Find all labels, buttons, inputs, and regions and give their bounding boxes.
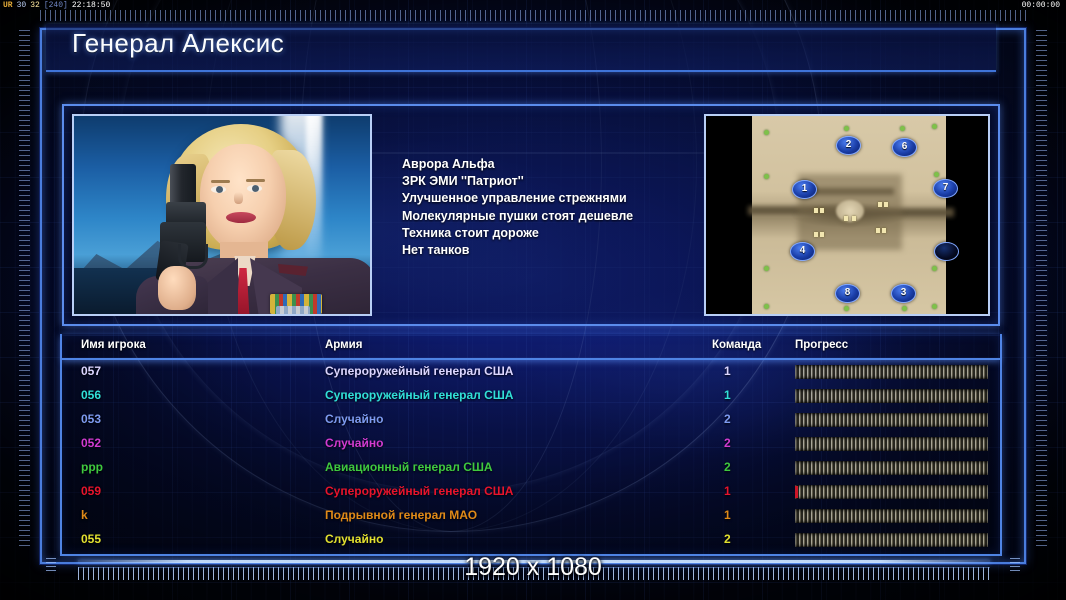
player-name: 059 xyxy=(81,482,101,501)
portrait-brow-right xyxy=(246,179,265,182)
map-resource-icon xyxy=(764,174,769,179)
portrait-face xyxy=(200,144,286,252)
player-progress-bar xyxy=(795,461,988,475)
table-row[interactable]: 057Супероружейный генерал США1 xyxy=(62,362,1000,386)
general-info-panel: Аврора Альфа ЗРК ЭМИ ''Патриот'' Улучшен… xyxy=(62,104,1000,326)
player-name: 052 xyxy=(81,434,101,453)
status-value-2: 32 xyxy=(28,1,42,10)
status-value-1: 30 xyxy=(15,1,29,10)
status-clock: 22:18:50 xyxy=(70,1,112,10)
player-army: Случайно xyxy=(325,434,383,453)
player-army: Авиационный генерал США xyxy=(325,458,493,477)
player-progress-bar xyxy=(795,365,988,379)
player-army: Супероружейный генерал США xyxy=(325,482,513,501)
map-center-oasis xyxy=(836,200,864,222)
map-tech-building-icon xyxy=(820,208,824,213)
player-name: 057 xyxy=(81,362,101,381)
player-army: Подрывной генерал МАО xyxy=(325,506,477,525)
player-team: 2 xyxy=(724,434,731,453)
resolution-overlay: 1920 x 1080 xyxy=(0,553,1066,582)
map-tech-building-icon xyxy=(878,202,882,207)
table-row[interactable]: pppАвиационный генерал США2 xyxy=(62,458,1000,482)
map-start-position-6[interactable]: 6 xyxy=(892,138,917,157)
player-progress-bar xyxy=(795,509,988,523)
portrait-lips xyxy=(226,212,256,223)
player-team: 2 xyxy=(724,458,731,477)
player-name: 055 xyxy=(81,530,101,549)
map-start-position-hidden[interactable] xyxy=(934,242,959,261)
player-name: ppp xyxy=(81,458,103,477)
map-start-position-4[interactable]: 4 xyxy=(790,242,815,261)
map-start-position-7[interactable]: 7 xyxy=(933,179,958,198)
description-line-5: Техника стоит дороже xyxy=(402,225,732,242)
player-army: Супероружейный генерал США xyxy=(325,386,513,405)
description-line-6: Нет танков xyxy=(402,242,732,259)
map-tech-building-icon xyxy=(820,232,824,237)
map-tech-building-icon xyxy=(814,232,818,237)
status-bar-right: 00:00:00 xyxy=(1022,0,1060,12)
column-header-name: Имя игрока xyxy=(81,336,146,354)
map-resource-icon xyxy=(902,306,907,311)
player-name: 053 xyxy=(81,410,101,429)
portrait-brow-left xyxy=(211,180,230,183)
table-row[interactable]: 056Супероружейный генерал США1 xyxy=(62,386,1000,410)
map-start-position-1[interactable]: 1 xyxy=(792,180,817,199)
map-resource-icon xyxy=(932,304,937,309)
player-army: Случайно xyxy=(325,530,383,549)
map-start-position-2[interactable]: 2 xyxy=(836,136,861,155)
map-resource-icon xyxy=(932,124,937,129)
table-row[interactable]: 052Случайно2 xyxy=(62,434,1000,458)
map-resource-icon xyxy=(764,266,769,271)
player-name: 056 xyxy=(81,386,101,405)
map-tech-building-icon xyxy=(844,216,848,221)
map-resource-icon xyxy=(844,306,849,311)
map-terrain: 1267483 xyxy=(752,116,946,314)
portrait-eye-right xyxy=(247,185,262,192)
player-army: Случайно xyxy=(325,410,383,429)
map-resource-icon xyxy=(932,266,937,271)
player-progress-bar xyxy=(795,485,988,499)
player-progress-bar xyxy=(795,437,988,451)
player-progress-marker xyxy=(795,486,798,498)
status-bar-left: UR3032[240]22:18:50 xyxy=(1,0,112,12)
map-resource-icon xyxy=(900,126,905,131)
player-progress-bar xyxy=(795,533,988,547)
description-line-2: ЗРК ЭМИ ''Патриот'' xyxy=(402,173,732,190)
player-progress-bar xyxy=(795,389,988,403)
map-resource-icon xyxy=(844,126,849,131)
map-tech-building-icon xyxy=(852,216,856,221)
general-portrait xyxy=(72,114,372,316)
player-team: 1 xyxy=(724,506,731,525)
player-team: 1 xyxy=(724,386,731,405)
player-team: 1 xyxy=(724,482,731,501)
title-bar: Генерал Алексис xyxy=(46,24,996,72)
table-row[interactable]: 053Случайно2 xyxy=(62,410,1000,434)
page-title: Генерал Алексис xyxy=(72,28,284,59)
column-header-progress: Прогресс xyxy=(795,336,848,354)
player-team: 2 xyxy=(724,530,731,549)
column-header-army: Армия xyxy=(325,336,362,354)
table-row[interactable]: 055Случайно2 xyxy=(62,530,1000,554)
status-bracket: [240] xyxy=(42,1,70,10)
player-table: Имя игрока Армия Команда Прогресс 057Суп… xyxy=(62,336,1000,554)
map-tech-building-icon xyxy=(882,228,886,233)
player-table-body: 057Супероружейный генерал США1056Суперор… xyxy=(62,362,1000,554)
map-resource-icon xyxy=(934,172,939,177)
player-army: Супероружейный генерал США xyxy=(325,362,513,381)
general-description: Аврора Альфа ЗРК ЭМИ ''Патриот'' Улучшен… xyxy=(402,156,732,259)
player-progress-bar xyxy=(795,413,988,427)
map-tech-building-icon xyxy=(814,208,818,213)
column-header-team: Команда xyxy=(712,336,761,354)
player-team: 2 xyxy=(724,410,731,429)
table-row[interactable]: 059Супероружейный генерал США1 xyxy=(62,482,1000,506)
status-bar: UR3032[240]22:18:50 00:00:00 xyxy=(0,0,1066,12)
map-preview: 1267483 xyxy=(704,114,990,316)
portrait-nose xyxy=(234,192,243,204)
portrait-medal-bar xyxy=(276,306,310,315)
map-tech-building-icon xyxy=(876,228,880,233)
player-team: 1 xyxy=(724,362,731,381)
map-start-position-3[interactable]: 3 xyxy=(891,284,916,303)
description-line-4: Молекулярные пушки стоят дешевле xyxy=(402,208,732,225)
player-name: k xyxy=(81,506,88,525)
description-line-3: Улучшенное управление стрежнями xyxy=(402,190,732,207)
map-resource-icon xyxy=(764,130,769,135)
map-start-position-8[interactable]: 8 xyxy=(835,284,860,303)
table-row[interactable]: kПодрывной генерал МАО1 xyxy=(62,506,1000,530)
map-resource-icon xyxy=(764,304,769,309)
status-label: UR xyxy=(1,1,15,10)
map-tech-building-icon xyxy=(884,202,888,207)
description-line-1: Аврора Альфа xyxy=(402,156,732,173)
portrait-eye-left xyxy=(211,186,226,193)
player-table-header: Имя игрока Армия Команда Прогресс xyxy=(62,336,1000,360)
portrait-hand xyxy=(158,266,196,310)
